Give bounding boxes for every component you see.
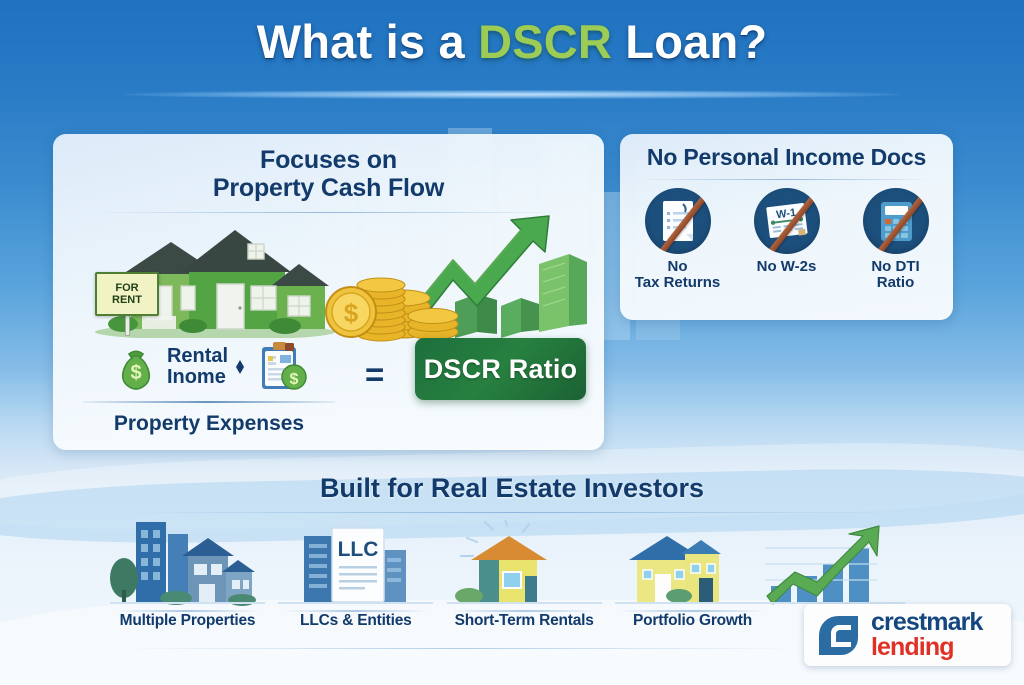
money-bag-icon: $ (110, 341, 162, 393)
dscr-ratio-badge: DSCR Ratio (415, 338, 586, 400)
right-card-no-income-docs: No Personal Income Docs (620, 134, 953, 320)
for-rent-sign-post (125, 314, 130, 336)
left-card-title-line2: Property Cash Flow (53, 174, 604, 202)
dscr-ratio-label: DSCR Ratio (424, 354, 578, 385)
dscr-numerator: $ Rental Inome (75, 336, 343, 398)
no-w2s-label: No W-2s (741, 259, 833, 275)
bottom-item-label: LLCs & Entities (278, 612, 433, 630)
svg-text:$: $ (344, 298, 359, 328)
title-text-after: Loan? (612, 15, 767, 68)
short-term-rental-icon (447, 520, 602, 612)
equals-sign: = (365, 356, 384, 394)
title-text-highlight: DSCR (478, 15, 612, 68)
title-glow-divider (122, 90, 902, 99)
logo-wordmark: crestmark lending (871, 610, 982, 660)
bottom-item-short-term-rentals: Short-Term Rentals (447, 520, 602, 650)
title-text-before: What is a (257, 15, 478, 68)
crestmark-cl-logomark (817, 614, 860, 657)
no-dti-ratio-item: No DTI Ratio (850, 188, 942, 291)
no-tax-returns-line1: No (632, 259, 724, 275)
bottom-baseline-divider (120, 648, 800, 649)
portfolio-growth-bars-icon (745, 520, 905, 612)
rental-income-line2: Inome (167, 367, 228, 388)
logo-line-lending: lending (871, 635, 982, 660)
for-rent-line2: RENT (112, 294, 142, 306)
svg-text:$: $ (290, 371, 299, 388)
multiple-properties-icon (110, 520, 265, 612)
dscr-formula: $ Rental Inome (53, 334, 604, 444)
growth-chart-icon: $ (325, 208, 590, 342)
bottom-item-multiple-properties: Multiple Properties (110, 520, 265, 650)
infographic-canvas: What is a DSCR Loan? Focuses on Property… (0, 0, 1024, 685)
llc-doc-text: LLC (338, 538, 379, 561)
no-tax-returns-item: No Tax Returns (632, 188, 724, 291)
no-docs-icon-row: No Tax Returns W-1 (620, 188, 953, 291)
llc-document-icon: LLC (278, 520, 433, 612)
bottom-section-title: Built for Real Estate Investors (0, 473, 1024, 504)
for-rent-line1: FOR (115, 282, 138, 294)
left-card-property-cash-flow: Focuses on Property Cash Flow (53, 134, 604, 450)
rental-income-label: Rental Inome (167, 346, 228, 388)
no-dti-line1: No DTI (850, 259, 942, 275)
no-tax-returns-line2: Tax Returns (632, 275, 724, 291)
left-card-title-line1: Focuses on (53, 146, 604, 174)
no-tax-returns-label: No Tax Returns (632, 259, 724, 291)
ground-line (116, 610, 259, 612)
ground-line (621, 610, 764, 612)
rental-income-line1: Rental (167, 346, 228, 367)
bottom-item-label: Multiple Properties (110, 612, 265, 630)
bottom-section-divider (130, 512, 894, 513)
clipboard-expenses-icon: $ (252, 339, 308, 395)
property-expenses-label: Property Expenses (75, 403, 343, 436)
bottom-item-label: Short-Term Rentals (447, 612, 602, 630)
diamond-separator-icon (233, 356, 247, 378)
crestmark-lending-logo[interactable]: crestmark lending (804, 604, 1011, 666)
bottom-item-llcs-entities: LLC LLCs & Entities (278, 520, 433, 650)
no-dti-line2: Ratio (850, 275, 942, 291)
right-card-title: No Personal Income Docs (620, 134, 953, 170)
bottom-item-label: Portfolio Growth (615, 612, 770, 630)
no-dti-ratio-icon (863, 188, 929, 254)
left-card-illustration-row: FOR RENT (53, 208, 604, 344)
ground-line (284, 610, 427, 612)
no-dti-ratio-label: No DTI Ratio (850, 259, 942, 291)
logo-line-crestmark: crestmark (871, 610, 982, 635)
right-card-divider (639, 179, 935, 180)
left-card-title: Focuses on Property Cash Flow (53, 134, 604, 203)
no-w2s-line1: No W-2s (741, 259, 833, 275)
for-rent-sign-icon: FOR RENT (95, 272, 159, 316)
no-w2s-icon: W-1 (754, 188, 820, 254)
no-tax-returns-icon (645, 188, 711, 254)
house-icon: FOR RENT (85, 216, 345, 338)
bottom-feature-row: Multiple Properties LLC (110, 520, 770, 650)
no-w2s-item: W-1 No W-2s (741, 188, 833, 291)
svg-text:$: $ (130, 362, 141, 384)
page-title: What is a DSCR Loan? (0, 14, 1024, 69)
ground-line (453, 610, 596, 612)
dscr-fraction: $ Rental Inome (75, 336, 343, 436)
